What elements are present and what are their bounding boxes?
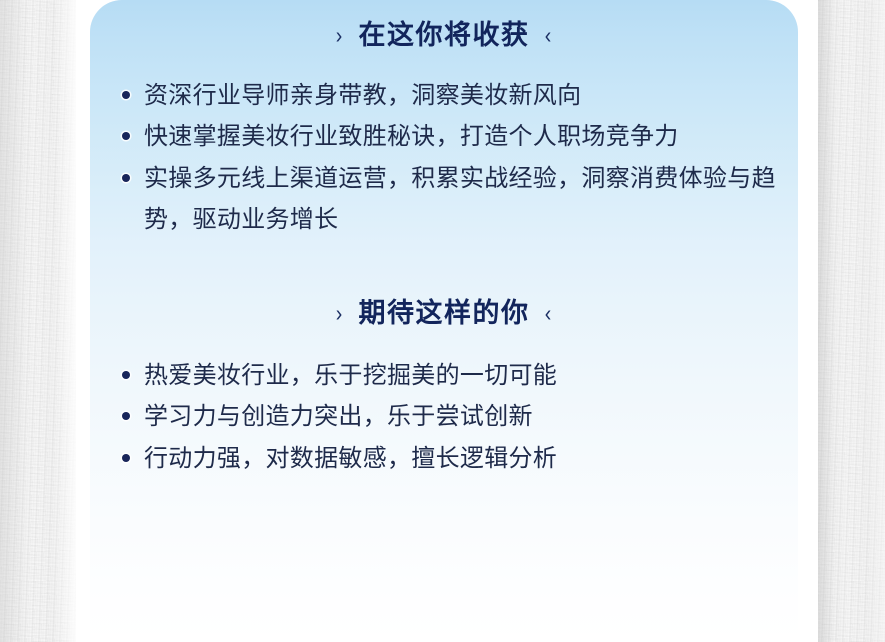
chevron-left-icon: ‹ [544, 24, 552, 47]
chevron-left-icon: ‹ [544, 302, 552, 325]
recruitment-info-card: › 在这你将收获 ‹ 资深行业导师亲身带教，洞察美妆新风向 快速掌握美妆行业致胜… [90, 0, 798, 642]
paper-texture-right [818, 0, 885, 642]
screenshot-root: › 在这你将收获 ‹ 资深行业导师亲身带教，洞察美妆新风向 快速掌握美妆行业致胜… [0, 0, 885, 642]
bullet-list-harvest: 资深行业导师亲身带教，洞察美妆新风向 快速掌握美妆行业致胜秘诀，打造个人职场竞争… [104, 75, 784, 240]
section-heading-expectations-label: 期待这样的你 [359, 300, 530, 327]
list-item: 学习力与创造力突出，乐于尝试创新 [118, 396, 784, 437]
list-item: 行动力强，对数据敏感，擅长逻辑分析 [118, 438, 784, 479]
list-item: 快速掌握美妆行业致胜秘诀，打造个人职场竞争力 [118, 116, 784, 157]
chevron-right-icon: › [336, 24, 344, 47]
card-content: › 在这你将收获 ‹ 资深行业导师亲身带教，洞察美妆新风向 快速掌握美妆行业致胜… [90, 0, 798, 479]
list-item: 资深行业导师亲身带教，洞察美妆新风向 [118, 75, 784, 116]
section-heading-expectations: › 期待这样的你 ‹ [104, 300, 784, 327]
chevron-right-icon: › [336, 302, 344, 325]
section-heading-harvest-label: 在这你将收获 [359, 22, 530, 49]
bullet-list-expectations: 热爱美妆行业，乐于挖掘美的一切可能 学习力与创造力突出，乐于尝试创新 行动力强，… [104, 355, 784, 479]
section-heading-harvest: › 在这你将收获 ‹ [104, 22, 784, 49]
list-item: 热爱美妆行业，乐于挖掘美的一切可能 [118, 355, 784, 396]
paper-texture-left [0, 0, 76, 642]
list-item: 实操多元线上渠道运营，积累实战经验，洞察消费体验与趋势，驱动业务增长 [118, 158, 784, 241]
